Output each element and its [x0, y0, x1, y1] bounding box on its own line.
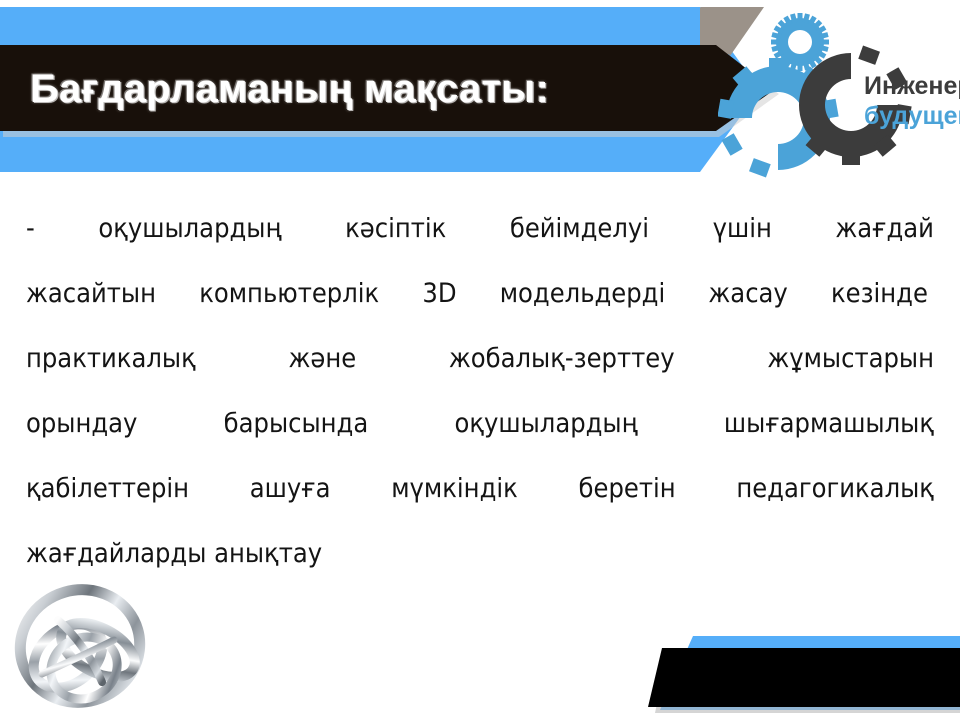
body-word: беретін	[579, 456, 676, 521]
body-line-3: практикалық және жобалық-зерттеу жұмыста…	[26, 326, 934, 391]
body-word: орындау	[26, 391, 137, 456]
body-word: -	[26, 196, 35, 261]
body-word: шығармашылық	[724, 391, 934, 456]
body-word: кезінде	[831, 261, 928, 326]
body-word: және	[289, 326, 357, 391]
body-word: бейімделуі	[510, 196, 649, 261]
ribbon-black-band	[648, 648, 960, 707]
body-word: кәсіптік	[345, 196, 446, 261]
body-word: ашуға	[250, 456, 331, 521]
body-line-6: жағдайларды анықтау	[26, 521, 938, 586]
body-line-1: - оқушылардың кәсіптік бейімделуі үшін ж…	[26, 196, 934, 261]
body-word: жасау	[708, 261, 787, 326]
body-word: жағдай	[835, 196, 934, 261]
body-word: мүмкіндік	[391, 456, 518, 521]
body-line-2: жасайтын компьютерлік 3D модельдерді жас…	[26, 261, 928, 326]
slide-canvas: Бағдарламаның мақсаты:	[0, 0, 960, 720]
logo: Инженеры будущего	[718, 0, 960, 182]
body-word: барысында	[224, 391, 369, 456]
body-word: оқушылардың	[454, 391, 637, 456]
body-word: үшін	[713, 196, 772, 261]
body-word: жұмыстарын	[767, 326, 934, 391]
chrome-trefoil-knot-image	[6, 578, 162, 720]
body-text-block: - оқушылардың кәсіптік бейімделуі үшін ж…	[26, 196, 938, 586]
body-word: педагогикалық	[736, 456, 934, 521]
body-word: компьютерлік	[199, 261, 379, 326]
banner-black-bar	[0, 45, 774, 131]
logo-text-line2: будущего	[864, 102, 960, 130]
body-line-4: орындау барысында оқушылардың шығармашыл…	[26, 391, 934, 456]
body-word: 3D	[422, 261, 456, 326]
bottom-ribbon-decoration	[600, 620, 960, 720]
body-word: қабілеттерін	[26, 456, 189, 521]
body-word: жобалық-зерттеу	[449, 326, 675, 391]
body-line-5: қабілеттерін ашуға мүмкіндік беретін пед…	[26, 456, 934, 521]
body-word: жасайтын	[26, 261, 156, 326]
body-word: практикалық	[26, 326, 196, 391]
body-word: модельдерді	[500, 261, 666, 326]
body-word: оқушылардың	[98, 196, 281, 261]
logo-text-line1: Инженеры	[864, 72, 960, 100]
